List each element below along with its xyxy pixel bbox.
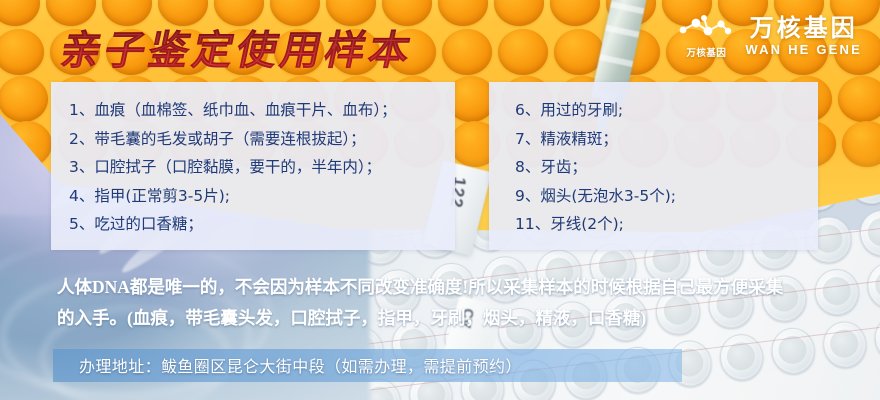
poster-root: 122 CV 亲子鉴定使用样本 [0,0,880,400]
address-text: 办理地址：鲅鱼圈区昆仑大街中段（如需办理，需提前预约） [53,349,682,377]
sample-list-item: 6、用过的牙刷; [515,96,818,125]
page-title: 亲子鉴定使用样本 [56,18,420,76]
brand-logo: 万核基因 万核基因 WAN HE GENE [677,14,862,59]
sample-list-panel-right: 6、用过的牙刷;7、精液精斑；8、牙齿；9、烟头(无泡水3-5个);11、牙线(… [489,82,818,250]
sample-list-item: 7、精液精斑； [515,125,818,154]
logo-text: 万核基因 WAN HE GENE [745,16,862,57]
logo-name-en: WAN HE GENE [745,43,862,57]
sample-list-panel-left: 1、血痕（血棉签、纸巾血、血痕干片、血布）；2、带毛囊的毛发或胡子（需要连根拔起… [51,82,455,250]
address-bar: 办理地址：鲅鱼圈区昆仑大街中段（如需办理，需提前预约） [53,349,682,382]
dna-note-line-2: 的入手。(血痕，带毛囊头发，口腔拭子，指甲，牙刷，烟头，精液，口香糖) [57,303,857,334]
sample-list-item: 9、烟头(无泡水3-5个); [515,182,818,211]
molecule-icon [677,14,735,44]
logo-name-cn: 万核基因 [750,16,858,41]
dna-note-line-1: 人体DNA都是唯一的，不会因为样本不同改变准确度!所以采集样本的时候根据自己最方… [57,272,857,303]
sample-list-item: 4、指甲(正常剪3-5片); [69,182,455,211]
sample-list-item: 8、牙齿； [515,153,818,182]
sample-list-item: 3、口腔拭子（口腔黏膜，要干的，半年内）； [69,153,455,182]
sample-list-right: 6、用过的牙刷;7、精液精斑；8、牙齿；9、烟头(无泡水3-5个);11、牙线(… [489,82,818,239]
logo-mark-label: 万核基因 [686,45,726,59]
dna-note: 人体DNA都是唯一的，不会因为样本不同改变准确度!所以采集样本的时候根据自己最方… [57,272,857,334]
sample-list-item: 2、带毛囊的毛发或胡子（需要连根拔起）； [69,125,455,154]
sample-list-item: 1、血痕（血棉签、纸巾血、血痕干片、血布）； [69,96,455,125]
sample-list-left: 1、血痕（血棉签、纸巾血、血痕干片、血布）；2、带毛囊的毛发或胡子（需要连根拔起… [51,82,455,239]
logo-mark: 万核基因 [677,14,735,59]
sample-list-item: 5、吃过的口香糖； [69,210,455,239]
sample-list-item: 11、牙线(2个); [515,210,818,239]
